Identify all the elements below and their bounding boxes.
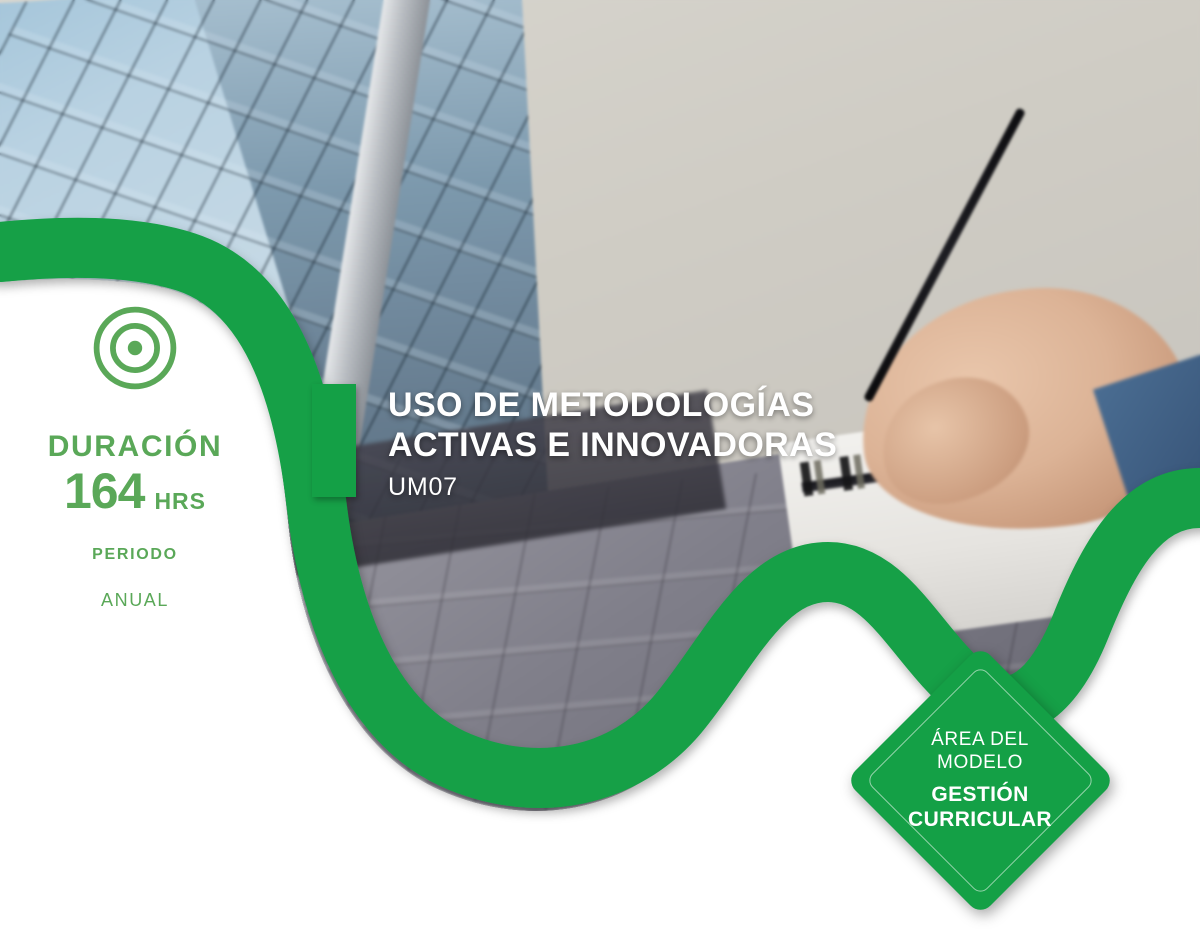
course-title-block: USO DE METODOLOGÍAS ACTIVAS E INNOVADORA… bbox=[312, 384, 837, 502]
course-cover: MacBook DURACIÓN bbox=[0, 0, 1200, 948]
period-label: PERIODO bbox=[92, 546, 178, 564]
model-area-badge: ÁREA DEL MODELO GESTIÓN CURRICULAR bbox=[845, 645, 1115, 915]
duration-hours-row: 164 HRS bbox=[64, 466, 206, 516]
target-bullseye-icon bbox=[87, 300, 183, 396]
title-accent-bar bbox=[312, 384, 356, 497]
duration-unit: HRS bbox=[154, 490, 206, 516]
duration-label: DURACIÓN bbox=[48, 430, 222, 464]
duration-info-panel: DURACIÓN 164 HRS PERIODO ANUAL bbox=[0, 300, 270, 611]
period-value: ANUAL bbox=[101, 590, 169, 611]
course-title: USO DE METODOLOGÍAS ACTIVAS E INNOVADORA… bbox=[388, 386, 837, 466]
badge-text-group: ÁREA DEL MODELO GESTIÓN CURRICULAR bbox=[845, 645, 1115, 915]
badge-area-name: GESTIÓN CURRICULAR bbox=[908, 782, 1052, 832]
course-code: UM07 bbox=[388, 473, 837, 502]
duration-value: 164 bbox=[64, 466, 144, 516]
title-text-group: USO DE METODOLOGÍAS ACTIVAS E INNOVADORA… bbox=[388, 384, 837, 502]
badge-area-label: ÁREA DEL MODELO bbox=[931, 728, 1029, 774]
